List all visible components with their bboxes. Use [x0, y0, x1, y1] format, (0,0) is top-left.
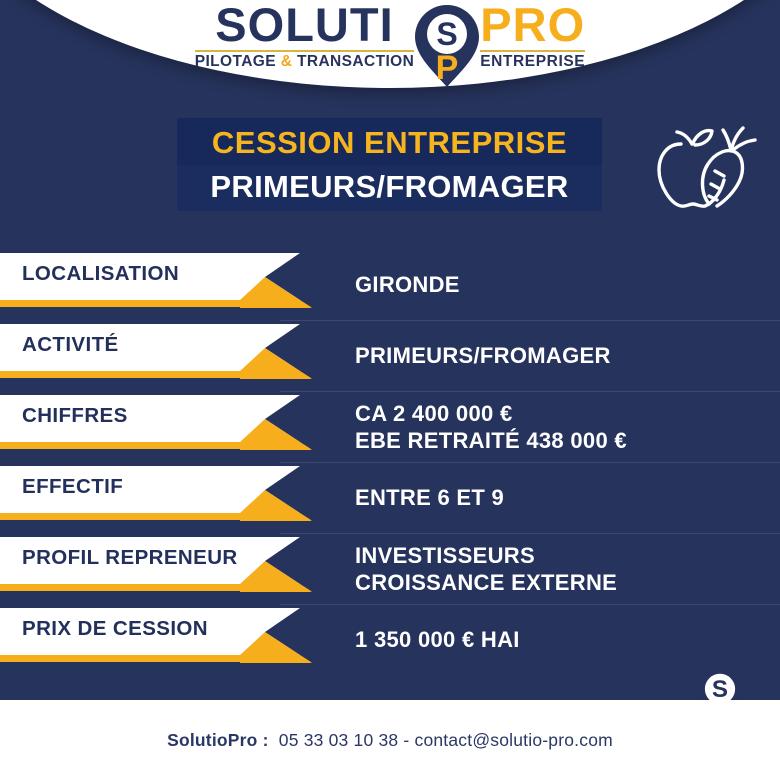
table-row: EFFECTIF ENTRE 6 ET 9	[0, 463, 780, 534]
logo-ampersand: &	[281, 53, 293, 70]
details-table: LOCALISATION GIRONDE ACTIVITÉ PRIMEURS/F…	[0, 250, 780, 676]
apple-carrot-icon	[645, 108, 765, 220]
footer-bar: SolutioPro : 05 33 03 10 38 - contact@so…	[0, 700, 780, 780]
title-banner: CESSION ENTREPRISE PRIMEURS/FROMAGER	[177, 118, 602, 211]
logo-divider-left	[195, 50, 414, 52]
pin-letter-s: S	[437, 16, 458, 52]
logo-divider-right	[480, 50, 585, 52]
logo-tagline-left: PILOTAGE & TRANSACTION	[195, 53, 414, 71]
pin-letter-p: P	[436, 49, 459, 87]
row-value-line: PRIMEURS/FROMAGER	[355, 343, 772, 370]
row-value-line: ENTRE 6 ET 9	[355, 485, 772, 512]
row-label: CHIFFRES	[22, 392, 128, 439]
row-value-line: CA 2 400 000 €	[355, 401, 772, 428]
row-value: ENTRE 6 ET 9	[355, 463, 772, 534]
row-value-line: INVESTISSEURS	[355, 543, 772, 570]
logo-left-block: SOLUTI PILOTAGE & TRANSACTION	[195, 3, 414, 71]
row-label: EFFECTIF	[22, 463, 123, 510]
row-label: PROFIL REPRENEUR	[22, 534, 238, 581]
poster-canvas: SOLUTI PILOTAGE & TRANSACTION S P PRO EN…	[0, 0, 780, 780]
table-row: ACTIVITÉ PRIMEURS/FROMAGER	[0, 321, 780, 392]
table-row: PROFIL REPRENEUR INVESTISSEURS CROISSANC…	[0, 534, 780, 605]
row-value: INVESTISSEURS CROISSANCE EXTERNE	[355, 534, 772, 605]
table-row: CHIFFRES CA 2 400 000 € EBE RETRAITÉ 438…	[0, 392, 780, 463]
header: SOLUTI PILOTAGE & TRANSACTION S P PRO EN…	[0, 0, 780, 96]
logo-tagline-part-b: TRANSACTION	[292, 53, 414, 70]
footer-contact-line: SolutioPro : 05 33 03 10 38 - contact@so…	[167, 730, 613, 751]
row-label: ACTIVITÉ	[22, 321, 119, 368]
table-row: PRIX DE CESSION 1 350 000 € HAI	[0, 605, 780, 676]
row-label: LOCALISATION	[22, 250, 179, 297]
row-value-line: 1 350 000 € HAI	[355, 627, 772, 654]
logo-map-pin: S P	[410, 3, 484, 89]
row-value: GIRONDE	[355, 250, 772, 321]
row-value: PRIMEURS/FROMAGER	[355, 321, 772, 392]
solutiopro-logo: SOLUTI PILOTAGE & TRANSACTION S P PRO EN…	[195, 3, 586, 89]
table-row: LOCALISATION GIRONDE	[0, 250, 780, 321]
footer-contact-details: 05 33 03 10 38 - contact@solutio-pro.com	[279, 730, 613, 750]
row-value-line: EBE RETRAITÉ 438 000 €	[355, 428, 772, 455]
footer-company-name: SolutioPro :	[167, 730, 269, 750]
row-label: PRIX DE CESSION	[22, 605, 208, 652]
logo-wordmark: SOLUTI	[215, 3, 393, 48]
title-line-secondary: PRIMEURS/FROMAGER	[177, 165, 602, 211]
title-line-primary: CESSION ENTREPRISE	[177, 118, 602, 165]
row-value-line: CROISSANCE EXTERNE	[355, 570, 772, 597]
row-value-line: GIRONDE	[355, 272, 772, 299]
row-value: CA 2 400 000 € EBE RETRAITÉ 438 000 €	[355, 392, 772, 463]
logo-right-block: PRO ENTREPRISE	[480, 3, 585, 71]
map-pin-icon: S P	[410, 3, 484, 89]
logo-tagline-right: ENTREPRISE	[480, 53, 585, 71]
logo-pro-wordmark: PRO	[480, 3, 585, 48]
logo-tagline-part-a: PILOTAGE	[195, 53, 281, 70]
